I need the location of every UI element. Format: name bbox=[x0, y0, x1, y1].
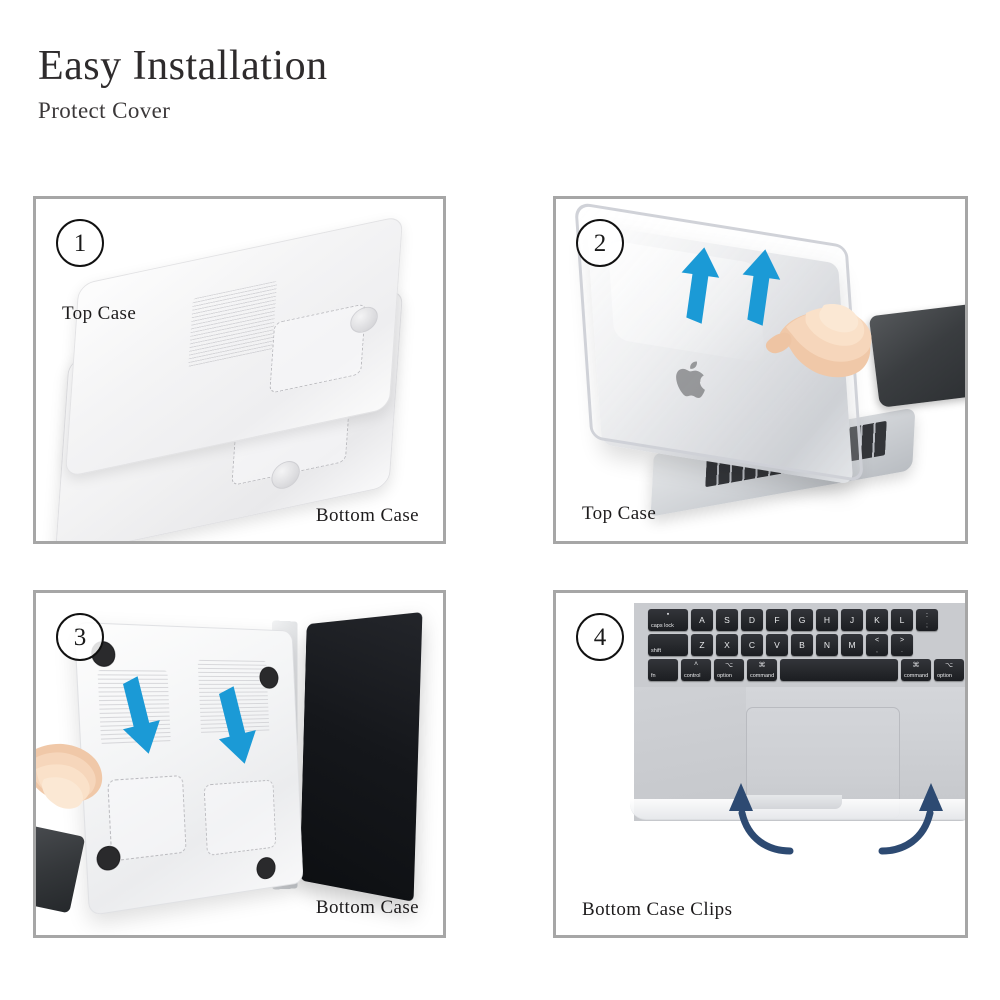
key-glyph-icon: ⌘ bbox=[759, 661, 766, 669]
key-label: F bbox=[774, 615, 779, 625]
hand-illustration bbox=[762, 275, 894, 403]
keyboard-row-modifiers: fn˄control⌥option⌘command⌘command⌥option bbox=[648, 659, 964, 681]
key-k[interactable]: K bbox=[866, 609, 888, 631]
key-label: caps lock bbox=[651, 623, 674, 629]
key-glyph-icon: ⌥ bbox=[725, 661, 733, 669]
page-subtitle: Protect Cover bbox=[38, 98, 738, 124]
key-f[interactable]: F bbox=[766, 609, 788, 631]
key-z[interactable]: Z bbox=[691, 634, 713, 656]
key-label: X bbox=[724, 640, 730, 650]
rubber-foot bbox=[259, 666, 279, 689]
caption-bottom-case-clips: Bottom Case Clips bbox=[582, 899, 732, 921]
key-label: fn bbox=[651, 673, 656, 679]
key-space[interactable] bbox=[780, 659, 898, 681]
arrow-up-right bbox=[739, 249, 781, 325]
key-label: option bbox=[937, 673, 952, 679]
key-control[interactable]: ˄control bbox=[681, 659, 711, 681]
key-x[interactable]: X bbox=[716, 634, 738, 656]
key-label: shift bbox=[651, 648, 661, 654]
arrow-up-left bbox=[678, 247, 720, 323]
key-glyph-icon: ⌘ bbox=[913, 661, 920, 669]
key-option[interactable]: ⌥option bbox=[714, 659, 744, 681]
step-number-badge: 2 bbox=[576, 219, 624, 267]
key-label: M bbox=[848, 640, 855, 650]
key-label: B bbox=[799, 640, 805, 650]
key-caps-lock[interactable]: ▪caps lock bbox=[648, 609, 688, 631]
arrow-clip-right bbox=[874, 771, 944, 857]
key-label: N bbox=[824, 640, 830, 650]
arrow-down-left bbox=[118, 675, 160, 755]
rubber-foot bbox=[96, 845, 121, 873]
key-label: command bbox=[904, 673, 928, 679]
arrow-down-right bbox=[214, 685, 256, 765]
key-label: S bbox=[724, 615, 730, 625]
key-fn[interactable]: fn bbox=[648, 659, 678, 681]
key-label: ; bbox=[926, 623, 928, 629]
key-glyph-icon: ⌥ bbox=[945, 661, 953, 669]
key-d[interactable]: D bbox=[741, 609, 763, 631]
step-number-badge: 1 bbox=[56, 219, 104, 267]
page-header: Easy Installation Protect Cover bbox=[38, 44, 738, 124]
key-l[interactable]: L bbox=[891, 609, 913, 631]
key-c[interactable]: C bbox=[741, 634, 763, 656]
key-label: . bbox=[901, 648, 903, 654]
key-label: D bbox=[749, 615, 755, 625]
key-label: command bbox=[750, 673, 774, 679]
key-label: control bbox=[684, 673, 701, 679]
cutout-panel bbox=[203, 779, 276, 856]
key-space[interactable]: <, bbox=[866, 634, 888, 656]
instruction-panel-step-3: 3 Bottom Case bbox=[33, 590, 446, 938]
caption-bottom-case: Bottom Case bbox=[316, 897, 419, 919]
key-g[interactable]: G bbox=[791, 609, 813, 631]
key-glyph-icon: ▪ bbox=[667, 611, 669, 618]
key-label: G bbox=[799, 615, 806, 625]
key-space[interactable]: >. bbox=[891, 634, 913, 656]
key-h[interactable]: H bbox=[816, 609, 838, 631]
key-a[interactable]: A bbox=[691, 609, 713, 631]
key-j[interactable]: J bbox=[841, 609, 863, 631]
key-label: J bbox=[850, 615, 854, 625]
caption-bottom-case: Bottom Case bbox=[316, 505, 419, 527]
key-label: V bbox=[774, 640, 780, 650]
key-label: L bbox=[900, 615, 905, 625]
keyboard-deck: ▪caps lockASDFGHJKL:; shiftZXCVBNM<,>. f… bbox=[634, 603, 968, 687]
vent-grid bbox=[188, 281, 277, 368]
key-n[interactable]: N bbox=[816, 634, 838, 656]
step-number-badge: 4 bbox=[576, 613, 624, 661]
key-v[interactable]: V bbox=[766, 634, 788, 656]
key-glyph-icon: ˄ bbox=[694, 661, 698, 668]
key-label-upper: < bbox=[875, 637, 879, 644]
key-command[interactable]: ⌘command bbox=[747, 659, 777, 681]
key-label: , bbox=[876, 648, 878, 654]
key-m[interactable]: M bbox=[841, 634, 863, 656]
key-label: H bbox=[824, 615, 830, 625]
keyboard-row-bottom-letters: shiftZXCVBNM<,>. bbox=[648, 634, 913, 656]
key-label-upper: > bbox=[900, 637, 904, 644]
instruction-panel-step-1: 1 Top Case Bottom Case bbox=[33, 196, 446, 544]
key-shift[interactable]: shift bbox=[648, 634, 688, 656]
key-label-upper: : bbox=[926, 612, 928, 619]
key-label: option bbox=[717, 673, 732, 679]
key-s[interactable]: S bbox=[716, 609, 738, 631]
arrow-clip-left bbox=[728, 771, 798, 857]
key-label: K bbox=[874, 615, 880, 625]
page-title: Easy Installation bbox=[38, 44, 738, 88]
macbook-screen-back bbox=[300, 612, 423, 902]
key-label: C bbox=[749, 640, 755, 650]
step-number-badge: 3 bbox=[56, 613, 104, 661]
instruction-panel-step-2: 2 Top Case bbox=[553, 196, 968, 544]
key-label: Z bbox=[699, 640, 704, 650]
caption-top-case: Top Case bbox=[62, 303, 136, 325]
key-b[interactable]: B bbox=[791, 634, 813, 656]
keyboard-row-home: ▪caps lockASDFGHJKL:; bbox=[648, 609, 938, 631]
key-command[interactable]: ⌘command bbox=[901, 659, 931, 681]
caption-top-case: Top Case bbox=[582, 503, 656, 525]
key-option[interactable]: ⌥option bbox=[934, 659, 964, 681]
instruction-panel-grid: 1 Top Case Bottom Case bbox=[33, 196, 968, 938]
key-label: A bbox=[699, 615, 705, 625]
key-space[interactable]: :; bbox=[916, 609, 938, 631]
instruction-panel-step-4: ▪caps lockASDFGHJKL:; shiftZXCVBNM<,>. f… bbox=[553, 590, 968, 938]
rubber-foot bbox=[256, 856, 276, 881]
